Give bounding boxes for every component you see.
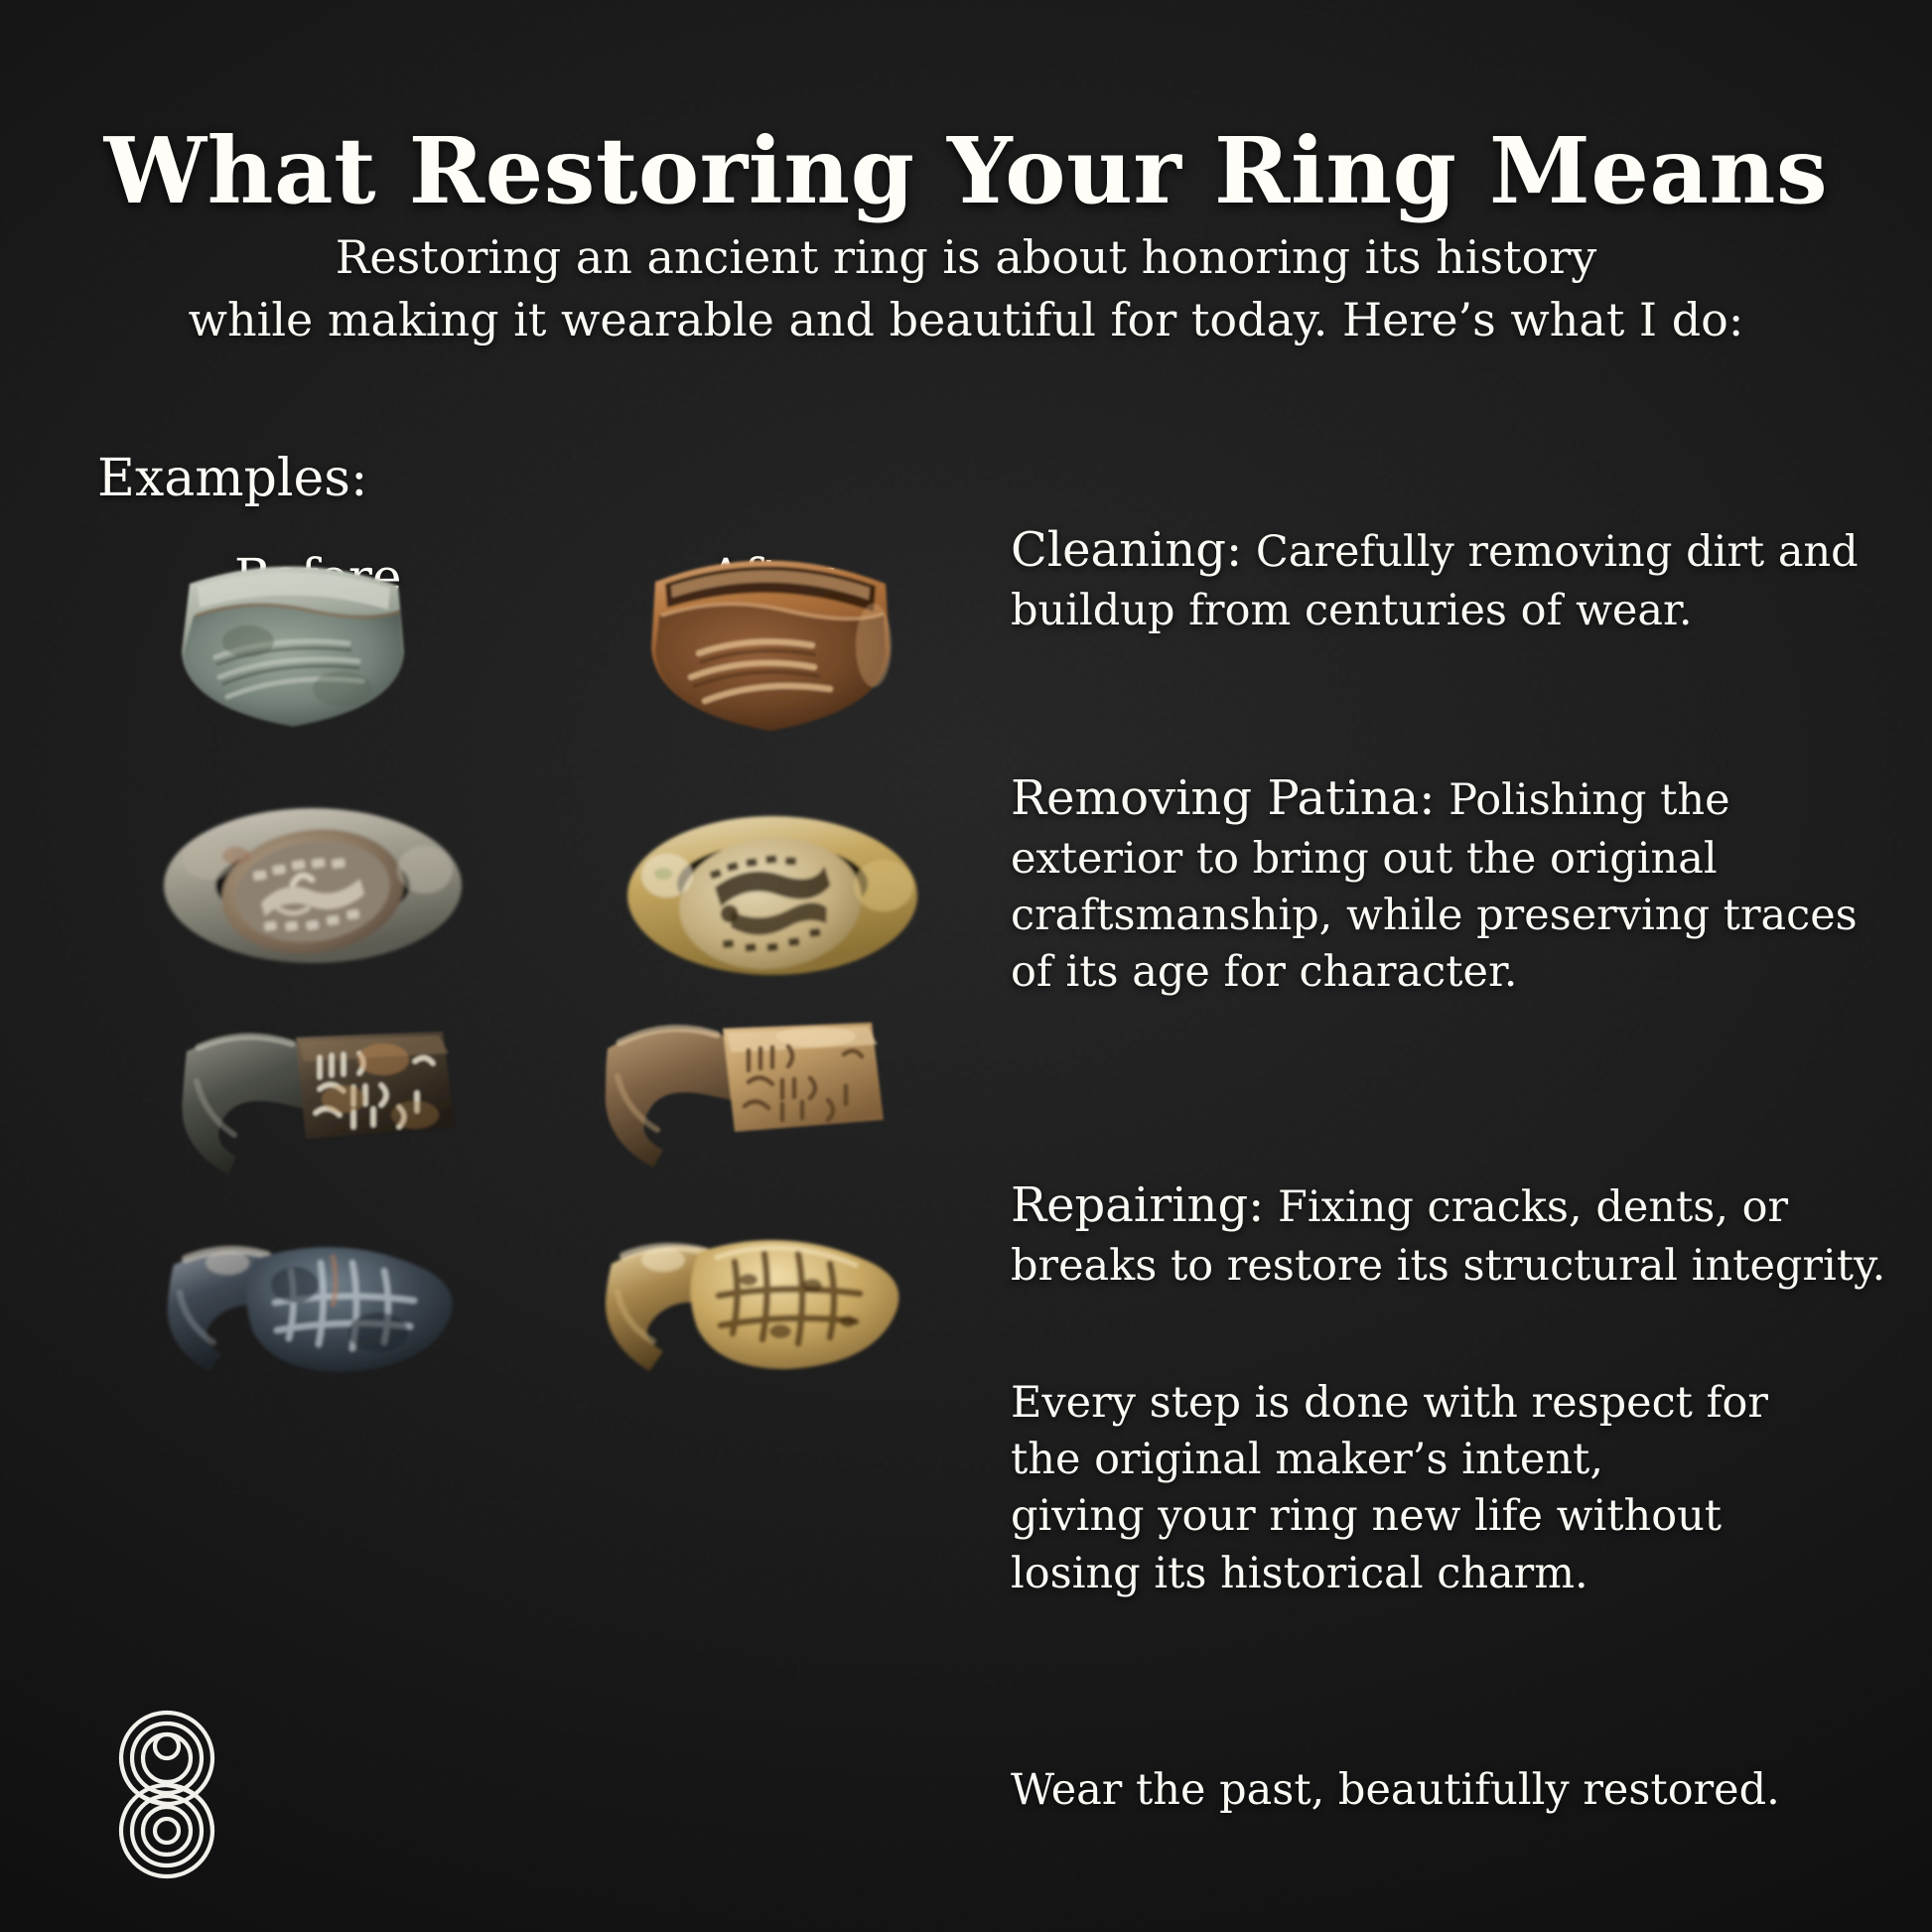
ring-image-row4-after	[604, 1216, 931, 1430]
closing-line-4: losing its historical charm.	[1011, 1546, 1904, 1602]
subtitle: Restoring an ancient ring is about honor…	[0, 226, 1932, 352]
page-title: What Restoring Your Ring Means	[0, 123, 1932, 220]
ring-image-row1-after	[625, 526, 913, 750]
examples-label: Examples:	[97, 449, 368, 508]
closing-line-3: giving your ring new life without	[1011, 1488, 1904, 1545]
step-repairing-lead: Repairing:	[1011, 1177, 1264, 1233]
closing-line-2: the original maker’s intent,	[1011, 1432, 1904, 1488]
step-removing-patina: Removing Patina: Polishing the exterior …	[1011, 767, 1904, 1001]
step-cleaning-lead: Cleaning:	[1011, 522, 1242, 578]
step-repairing: Repairing: Fixing cracks, dents, or brea…	[1011, 1174, 1904, 1295]
subtitle-line-2: while making it wearable and beautiful f…	[0, 289, 1932, 351]
step-removing-patina-lead: Removing Patina:	[1011, 770, 1435, 826]
ring-image-row3-after	[596, 993, 923, 1226]
double-spiral-labyrinth-logo	[83, 1703, 250, 1886]
ring-image-row2-after	[614, 784, 931, 1008]
closing-statement: Every step is done with respect for the …	[1011, 1375, 1904, 1602]
tagline: Wear the past, beautifully restored.	[1011, 1762, 1904, 1819]
subtitle-line-1: Restoring an ancient ring is about honor…	[0, 226, 1932, 289]
step-cleaning: Cleaning: Carefully removing dirt and bu…	[1011, 519, 1904, 639]
ring-image-row4-before	[164, 1221, 482, 1435]
ring-image-row2-before	[149, 764, 477, 1003]
ring-image-row3-before	[169, 1008, 486, 1236]
closing-line-1: Every step is done with respect for	[1011, 1375, 1904, 1432]
poster-canvas: What Restoring Your Ring Means Restoring…	[0, 0, 1932, 1932]
ring-image-row1-before	[154, 532, 432, 746]
